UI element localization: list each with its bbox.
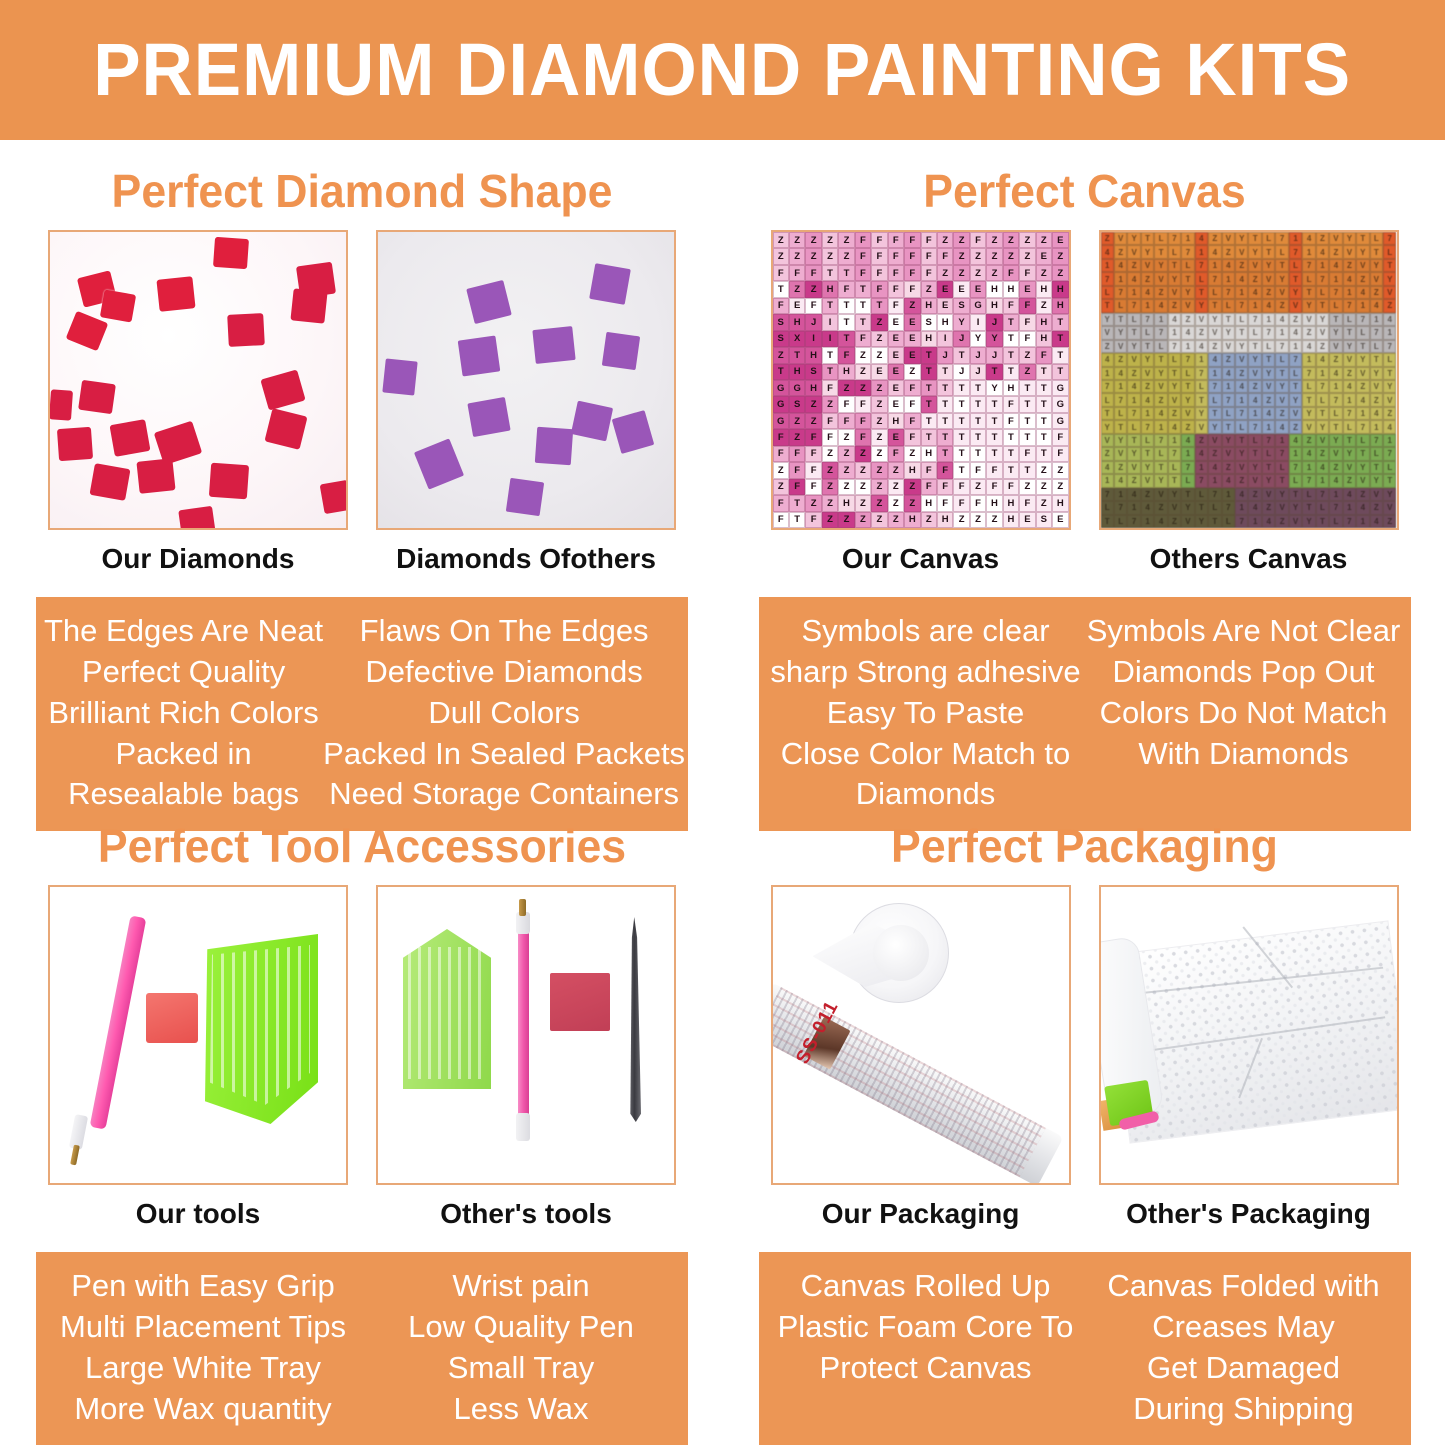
- bullets-others-diamond-shape: Flaws On The Edges Defective Diamonds Du…: [323, 611, 685, 816]
- symbol-cell: T: [986, 364, 1002, 380]
- symbol-cell-blurry: 7: [1114, 393, 1127, 406]
- symbol-cell: F: [855, 429, 871, 445]
- symbol-cell-blurry: L: [1141, 434, 1154, 447]
- symbol-cell-blurry: L: [1181, 474, 1194, 487]
- symbol-cell: Z: [773, 347, 789, 363]
- symbol-cell: Z: [805, 248, 821, 264]
- symbol-cell: G: [1052, 396, 1068, 412]
- symbol-cell-blurry: 7: [1222, 393, 1235, 406]
- caption-our-packaging: Our Packaging: [771, 1199, 1071, 1230]
- symbol-cell: F: [773, 512, 789, 528]
- symbol-cell: F: [1003, 298, 1019, 314]
- symbol-cell: Z: [805, 232, 821, 248]
- symbol-cell-blurry: 7: [1127, 407, 1140, 420]
- symbol-cell: Z: [1019, 479, 1035, 495]
- symbol-cell-blurry: T: [1154, 353, 1167, 366]
- symbol-cell-blurry: 1: [1343, 286, 1356, 299]
- symbol-cell-blurry: V: [1154, 272, 1167, 285]
- symbol-cell-blurry: 7: [1302, 474, 1315, 487]
- symbol-cell: F: [871, 232, 887, 248]
- symbol-cell: F: [1052, 429, 1068, 445]
- symbol-cell-blurry: T: [1222, 420, 1235, 433]
- symbol-cell-blurry: 1: [1262, 313, 1275, 326]
- symbol-cell-blurry: 4: [1222, 259, 1235, 272]
- symbol-cell: H: [1036, 314, 1052, 330]
- symbol-cell-blurry: T: [1275, 474, 1288, 487]
- symbol-cell: Z: [838, 446, 854, 462]
- symbol-cell-blurry: 4: [1141, 501, 1154, 514]
- symbol-cell-blurry: L: [1114, 515, 1127, 528]
- symbol-cell-blurry: 7: [1168, 232, 1181, 245]
- symbol-cell: Z: [904, 446, 920, 462]
- symbol-cell-blurry: 1: [1181, 340, 1194, 353]
- symbol-cell-blurry: Y: [1356, 245, 1369, 258]
- symbol-cell-blurry: T: [1356, 232, 1369, 245]
- symbol-cell-blurry: L: [1329, 407, 1342, 420]
- symbol-cell: F: [773, 298, 789, 314]
- symbol-cell: T: [1019, 413, 1035, 429]
- symbol-cell-blurry: T: [1222, 313, 1235, 326]
- symbol-cell-blurry: Z: [1248, 488, 1261, 501]
- symbol-cell-blurry: 1: [1289, 447, 1302, 460]
- symbol-cell: T: [838, 265, 854, 281]
- tweezers-icon: [628, 917, 641, 1122]
- symbol-cell: G: [773, 396, 789, 412]
- symbol-cell-blurry: V: [1181, 515, 1194, 528]
- diamond-bead: [571, 401, 613, 442]
- symbol-cell: Z: [871, 380, 887, 396]
- diamond-bead: [49, 389, 73, 420]
- caption-other-tools: Other's tools: [376, 1199, 676, 1230]
- symbol-cell-blurry: T: [1195, 286, 1208, 299]
- symbol-cell-blurry: 7: [1208, 380, 1221, 393]
- symbol-cell: Z: [871, 462, 887, 478]
- symbol-cell: F: [888, 248, 904, 264]
- bullet-item: Pen with Easy Grip: [44, 1266, 362, 1307]
- photo-cell-others-diamonds: Diamonds Ofothers: [376, 230, 676, 575]
- symbol-cell: F: [904, 265, 920, 281]
- symbol-cell: Z: [986, 248, 1002, 264]
- symbol-cell: Z: [904, 495, 920, 511]
- symbol-cell: J: [970, 364, 986, 380]
- symbol-cell: T: [1003, 331, 1019, 347]
- photo-row-canvas: ZZZZZFFFFFZZFZZZZEZZZZZFFFFFFZZZZZEZFFFT…: [736, 230, 1433, 575]
- symbol-cell-blurry: Y: [1222, 434, 1235, 447]
- symbol-cell-blurry: L: [1181, 367, 1194, 380]
- diamond-bead: [532, 326, 575, 364]
- symbol-cell-blurry: L: [1101, 393, 1114, 406]
- photo-row-tools: Our tools Other's tools: [12, 885, 712, 1230]
- photo-our-canvas: ZZZZZFFFFFZZFZZZZEZZZZZFFFFFFZZZZZEZFFFT…: [771, 230, 1071, 530]
- symbol-cell-blurry: L: [1302, 488, 1315, 501]
- symbol-cell-blurry: T: [1127, 434, 1140, 447]
- symbol-cell-blurry: Z: [1181, 313, 1194, 326]
- symbol-cell: Z: [871, 413, 887, 429]
- caption-others-canvas: Others Canvas: [1099, 544, 1399, 575]
- symbol-cell-blurry: Y: [1235, 340, 1248, 353]
- symbol-cell: S: [789, 396, 805, 412]
- symbol-cell: E: [904, 314, 920, 330]
- symbol-cell: Z: [1052, 462, 1068, 478]
- symbol-cell: T: [773, 364, 789, 380]
- symbol-cell-blurry: T: [1370, 461, 1383, 474]
- section-title-diamond-shape: Perfect Diamond Shape: [23, 168, 702, 214]
- symbol-cell: Z: [822, 512, 838, 528]
- symbol-cell-blurry: T: [1370, 353, 1383, 366]
- symbol-cell: Z: [871, 512, 887, 528]
- symbol-cell-blurry: 1: [1329, 380, 1342, 393]
- symbol-cell-blurry: Z: [1127, 367, 1140, 380]
- symbol-cell-blurry: 4: [1370, 515, 1383, 528]
- symbol-cell-blurry: Z: [1275, 299, 1288, 312]
- symbol-cell-blurry: Z: [1356, 488, 1369, 501]
- symbol-cell-blurry: Z: [1127, 259, 1140, 272]
- symbol-cell-blurry: V: [1370, 380, 1383, 393]
- symbol-cell-blurry: 4: [1316, 461, 1329, 474]
- symbol-cell: J: [953, 364, 969, 380]
- symbol-cell: Z: [970, 512, 986, 528]
- symbol-cell-blurry: 7: [1101, 272, 1114, 285]
- symbol-cell: Z: [986, 265, 1002, 281]
- symbol-cell-blurry: V: [1275, 501, 1288, 514]
- symbol-cell-blurry: T: [1329, 313, 1342, 326]
- symbol-cell: E: [888, 347, 904, 363]
- symbol-cell-blurry: V: [1289, 515, 1302, 528]
- diamond-bead: [89, 463, 130, 501]
- photo-others-diamonds: [376, 230, 676, 530]
- symbol-cell: H: [986, 281, 1002, 297]
- bullet-item: Close Color Match to: [767, 734, 1085, 775]
- symbol-cell-blurry: T: [1343, 326, 1356, 339]
- symbol-cell: Z: [855, 364, 871, 380]
- symbol-cell-blurry: Y: [1262, 367, 1275, 380]
- symbol-cell-blurry: 4: [1262, 299, 1275, 312]
- symbol-cell-blurry: 7: [1235, 515, 1248, 528]
- symbol-cell: T: [855, 298, 871, 314]
- symbol-cell-blurry: Z: [1101, 447, 1114, 460]
- symbol-cell: F: [855, 396, 871, 412]
- symbol-cell-blurry: Z: [1262, 286, 1275, 299]
- symbol-cell-blurry: Y: [1248, 353, 1261, 366]
- symbol-cell-blurry: 1: [1248, 299, 1261, 312]
- symbol-cell-blurry: 7: [1101, 380, 1114, 393]
- symbol-cell-blurry: Y: [1181, 501, 1194, 514]
- tray-grooves: [210, 945, 310, 1105]
- symbol-cell-blurry: L: [1275, 353, 1288, 366]
- symbol-cell: F: [1019, 298, 1035, 314]
- symbol-cell-blurry: Z: [1181, 420, 1194, 433]
- symbol-cell-blurry: V: [1370, 488, 1383, 501]
- diamond-bead: [458, 336, 501, 377]
- symbol-cell-blurry: 4: [1329, 259, 1342, 272]
- symbol-cell-blurry: V: [1235, 353, 1248, 366]
- caption-others-diamonds: Diamonds Ofothers: [376, 544, 676, 575]
- diamond-bead: [136, 458, 175, 494]
- symbol-cell-blurry: T: [1316, 515, 1329, 528]
- symbol-cell: F: [805, 446, 821, 462]
- symbol-cell: Z: [888, 495, 904, 511]
- symbol-cell-blurry: V: [1275, 286, 1288, 299]
- symbol-cell-blurry: V: [1181, 299, 1194, 312]
- symbol-cell-blurry: L: [1248, 326, 1261, 339]
- bullets-others-packaging: Canvas Folded with Creases May Get Damag…: [1085, 1266, 1403, 1430]
- symbol-cell: Z: [1003, 232, 1019, 248]
- symbol-cell-blurry: L: [1235, 420, 1248, 433]
- photo-row-diamond-shape: Our Diamonds: [12, 230, 712, 575]
- symbol-cell: T: [921, 429, 937, 445]
- symbol-cell-blurry: Z: [1141, 380, 1154, 393]
- bullet-item: Low Quality Pen: [362, 1307, 680, 1348]
- symbol-cell: Z: [855, 446, 871, 462]
- symbol-cell-blurry: 7: [1127, 299, 1140, 312]
- symbol-cell-blurry: L: [1262, 447, 1275, 460]
- symbol-cell: Z: [871, 396, 887, 412]
- symbol-cell: T: [921, 380, 937, 396]
- symbol-cell-blurry: 4: [1127, 272, 1140, 285]
- symbol-cell-blurry: 1: [1248, 407, 1261, 420]
- symbol-cell-blurry: Y: [1343, 447, 1356, 460]
- symbol-cell: F: [1003, 479, 1019, 495]
- symbol-cell-blurry: Z: [1141, 272, 1154, 285]
- symbol-cell-blurry: 4: [1168, 420, 1181, 433]
- symbol-cell: F: [921, 462, 937, 478]
- symbol-cell-blurry: V: [1289, 299, 1302, 312]
- symbol-cell-blurry: 1: [1262, 420, 1275, 433]
- symbol-cell-blurry: 4: [1262, 407, 1275, 420]
- symbol-cell-blurry: Y: [1114, 326, 1127, 339]
- symbol-cell: F: [789, 265, 805, 281]
- symbol-cell-blurry: Z: [1329, 461, 1342, 474]
- symbol-cell: T: [921, 364, 937, 380]
- symbol-cell: F: [904, 413, 920, 429]
- symbol-cell: E: [904, 347, 920, 363]
- symbol-cell: H: [805, 347, 821, 363]
- diamond-bead: [227, 313, 265, 347]
- symbol-cell-blurry: T: [1383, 259, 1396, 272]
- symbol-cell: J: [986, 314, 1002, 330]
- symbol-cell: Z: [970, 479, 986, 495]
- symbol-cell-blurry: Z: [1262, 393, 1275, 406]
- symbol-cell: F: [904, 380, 920, 396]
- symbol-cell-blurry: 4: [1114, 367, 1127, 380]
- symbol-cell-blurry: 7: [1127, 515, 1140, 528]
- symbol-cell-blurry: V: [1222, 340, 1235, 353]
- symbol-cell: F: [805, 479, 821, 495]
- symbol-cell-blurry: 1: [1154, 313, 1167, 326]
- symbol-cell-blurry: 4: [1289, 326, 1302, 339]
- symbol-cell-blurry: Z: [1141, 488, 1154, 501]
- symbol-cell: H: [937, 314, 953, 330]
- symbol-cell: Z: [822, 396, 838, 412]
- symbol-cell-blurry: Z: [1383, 299, 1396, 312]
- symbol-cell-blurry: 4: [1127, 488, 1140, 501]
- symbol-cell-blurry: T: [1383, 367, 1396, 380]
- symbol-cell-blurry: V: [1302, 313, 1315, 326]
- symbol-cell: T: [970, 413, 986, 429]
- symbol-cell: G: [1052, 413, 1068, 429]
- symbol-cell-blurry: Z: [1168, 299, 1181, 312]
- symbol-cell-blurry: T: [1302, 501, 1315, 514]
- symbol-cell-blurry: 4: [1343, 272, 1356, 285]
- symbol-cell: H: [838, 364, 854, 380]
- symbol-cell-blurry: L: [1262, 340, 1275, 353]
- symbol-cell: F: [838, 347, 854, 363]
- symbol-cell-blurry: 4: [1208, 353, 1221, 366]
- symbol-cell-blurry: L: [1208, 286, 1221, 299]
- symbol-cell-blurry: 7: [1248, 313, 1261, 326]
- bullet-item: Defective Diamonds: [323, 652, 685, 693]
- symbol-cell: G: [789, 380, 805, 396]
- symbol-cell-blurry: L: [1302, 272, 1315, 285]
- symbol-cell: E: [888, 396, 904, 412]
- symbol-cell-blurry: 7: [1114, 286, 1127, 299]
- symbol-cell: F: [773, 495, 789, 511]
- bullet-item: Flaws On The Edges: [323, 611, 685, 652]
- section-packaging: Perfect Packaging SS-011 Our Packaging: [724, 795, 1445, 1445]
- symbol-cell: Z: [805, 281, 821, 297]
- symbol-cell-blurry: T: [1289, 272, 1302, 285]
- symbol-cell: T: [1019, 380, 1035, 396]
- symbol-cell-blurry: 1: [1302, 461, 1315, 474]
- symbol-cell: E: [888, 380, 904, 396]
- symbol-cell: F: [855, 232, 871, 248]
- symbol-cell: T: [937, 396, 953, 412]
- symbol-cell: H: [789, 364, 805, 380]
- symbol-cell-blurry: 1: [1235, 393, 1248, 406]
- symbol-cell-blurry: V: [1316, 434, 1329, 447]
- symbol-cell-blurry: Z: [1370, 501, 1383, 514]
- symbol-cell: F: [838, 281, 854, 297]
- symbol-cell-blurry: L: [1316, 501, 1329, 514]
- symbol-cell-blurry: T: [1329, 420, 1342, 433]
- symbol-cell: Z: [871, 331, 887, 347]
- symbol-cell: E: [953, 281, 969, 297]
- symbol-cell-blurry: Z: [1302, 434, 1315, 447]
- symbol-cell-blurry: T: [1262, 353, 1275, 366]
- symbol-cell-blurry: T: [1195, 501, 1208, 514]
- symbol-cell: Z: [838, 462, 854, 478]
- symbol-cell: Z: [838, 429, 854, 445]
- symbol-cell-blurry: 7: [1329, 501, 1342, 514]
- symbol-cell: F: [904, 248, 920, 264]
- symbol-cell: Z: [953, 232, 969, 248]
- symbol-cell: Z: [805, 396, 821, 412]
- symbol-cell-blurry: Y: [1127, 340, 1140, 353]
- symbol-cell: H: [921, 495, 937, 511]
- symbol-cell-blurry: Y: [1235, 232, 1248, 245]
- symbol-cell-blurry: Y: [1302, 515, 1315, 528]
- diamond-bead: [320, 480, 348, 514]
- symbol-cell-blurry: V: [1235, 245, 1248, 258]
- symbol-cell: F: [953, 479, 969, 495]
- symbol-cell: T: [1019, 462, 1035, 478]
- diamond-bead: [178, 506, 216, 530]
- symbol-cell: Z: [970, 248, 986, 264]
- diamond-bead: [290, 288, 327, 323]
- symbol-cell-blurry: 4: [1302, 232, 1315, 245]
- symbol-cell: G: [773, 413, 789, 429]
- symbol-cell: Z: [921, 512, 937, 528]
- symbol-cell: T: [855, 281, 871, 297]
- symbol-cell: F: [855, 248, 871, 264]
- symbol-cell-blurry: T: [1114, 313, 1127, 326]
- symbol-cell: Z: [1003, 248, 1019, 264]
- symbol-cell-blurry: L: [1114, 407, 1127, 420]
- symbol-cell-blurry: Z: [1316, 447, 1329, 460]
- bullets-ours-canvas: Symbols are clear sharp Strong adhesive …: [767, 611, 1085, 816]
- symbol-cell: F: [937, 479, 953, 495]
- symbol-cell-blurry: Z: [1208, 340, 1221, 353]
- symbol-cell-blurry: 1: [1127, 286, 1140, 299]
- symbol-cell-blurry: 4: [1208, 245, 1221, 258]
- symbol-cell-blurry: 1: [1356, 407, 1369, 420]
- symbol-cell-blurry: 7: [1343, 299, 1356, 312]
- symbol-cell: T: [838, 331, 854, 347]
- symbol-cell: J: [805, 314, 821, 330]
- symbol-cell: Z: [871, 446, 887, 462]
- symbol-cell-blurry: V: [1114, 232, 1127, 245]
- symbol-cell-blurry: 7: [1101, 488, 1114, 501]
- symbol-cell-blurry: 4: [1101, 245, 1114, 258]
- symbol-cell-blurry: 7: [1235, 299, 1248, 312]
- photo-cell-other-packaging: Other's Packaging: [1099, 885, 1399, 1230]
- pink-pen: [90, 915, 147, 1129]
- symbol-cell-blurry: V: [1248, 367, 1261, 380]
- symbol-cell-blurry: Y: [1141, 245, 1154, 258]
- symbol-cell: Z: [871, 479, 887, 495]
- photo-other-tools: [376, 885, 676, 1185]
- symbol-cell: Z: [1019, 248, 1035, 264]
- symbol-cell-blurry: 4: [1141, 393, 1154, 406]
- symbol-cell-blurry: Z: [1262, 501, 1275, 514]
- symbol-cell-blurry: 7: [1343, 515, 1356, 528]
- symbol-cell-blurry: Y: [1181, 393, 1194, 406]
- symbol-cell-blurry: 4: [1275, 313, 1288, 326]
- symbol-cell-blurry: V: [1154, 488, 1167, 501]
- diamond-bead: [467, 397, 510, 437]
- symbol-cell-blurry: Z: [1168, 515, 1181, 528]
- symbol-cell-blurry: 1: [1208, 474, 1221, 487]
- symbol-cell-blurry: Z: [1383, 515, 1396, 528]
- symbol-cell: I: [805, 331, 821, 347]
- symbol-cell: Z: [937, 265, 953, 281]
- symbol-cell: E: [1019, 512, 1035, 528]
- photo-our-packaging: SS-011: [771, 885, 1071, 1185]
- symbol-cell-blurry: L: [1195, 380, 1208, 393]
- bullet-item: Symbols are clear: [767, 611, 1085, 652]
- symbol-cell-blurry: V: [1101, 326, 1114, 339]
- symbol-cell: F: [1019, 331, 1035, 347]
- symbol-cell-blurry: Y: [1101, 420, 1114, 433]
- symbol-cell: Z: [773, 248, 789, 264]
- photo-cell-our-packaging: SS-011 Our Packaging: [771, 885, 1071, 1230]
- caption-other-packaging: Other's Packaging: [1099, 1199, 1399, 1230]
- symbol-cell: Z: [953, 265, 969, 281]
- symbol-cell-blurry: L: [1316, 286, 1329, 299]
- symbol-cell: T: [1003, 462, 1019, 478]
- symbol-cell-blurry: Z: [1289, 420, 1302, 433]
- symbol-cell-blurry: Y: [1195, 407, 1208, 420]
- symbol-cell-blurry: Y: [1370, 367, 1383, 380]
- wax-square: [146, 993, 198, 1043]
- symbol-cell: H: [789, 314, 805, 330]
- symbol-cell-blurry: T: [1154, 461, 1167, 474]
- symbol-cell: H: [986, 495, 1002, 511]
- symbol-cell: E: [871, 364, 887, 380]
- bullets-others-tools: Wrist pain Low Quality Pen Small Tray Le…: [362, 1266, 680, 1430]
- symbol-cell-blurry: 4: [1356, 393, 1369, 406]
- symbol-cell-blurry: V: [1168, 393, 1181, 406]
